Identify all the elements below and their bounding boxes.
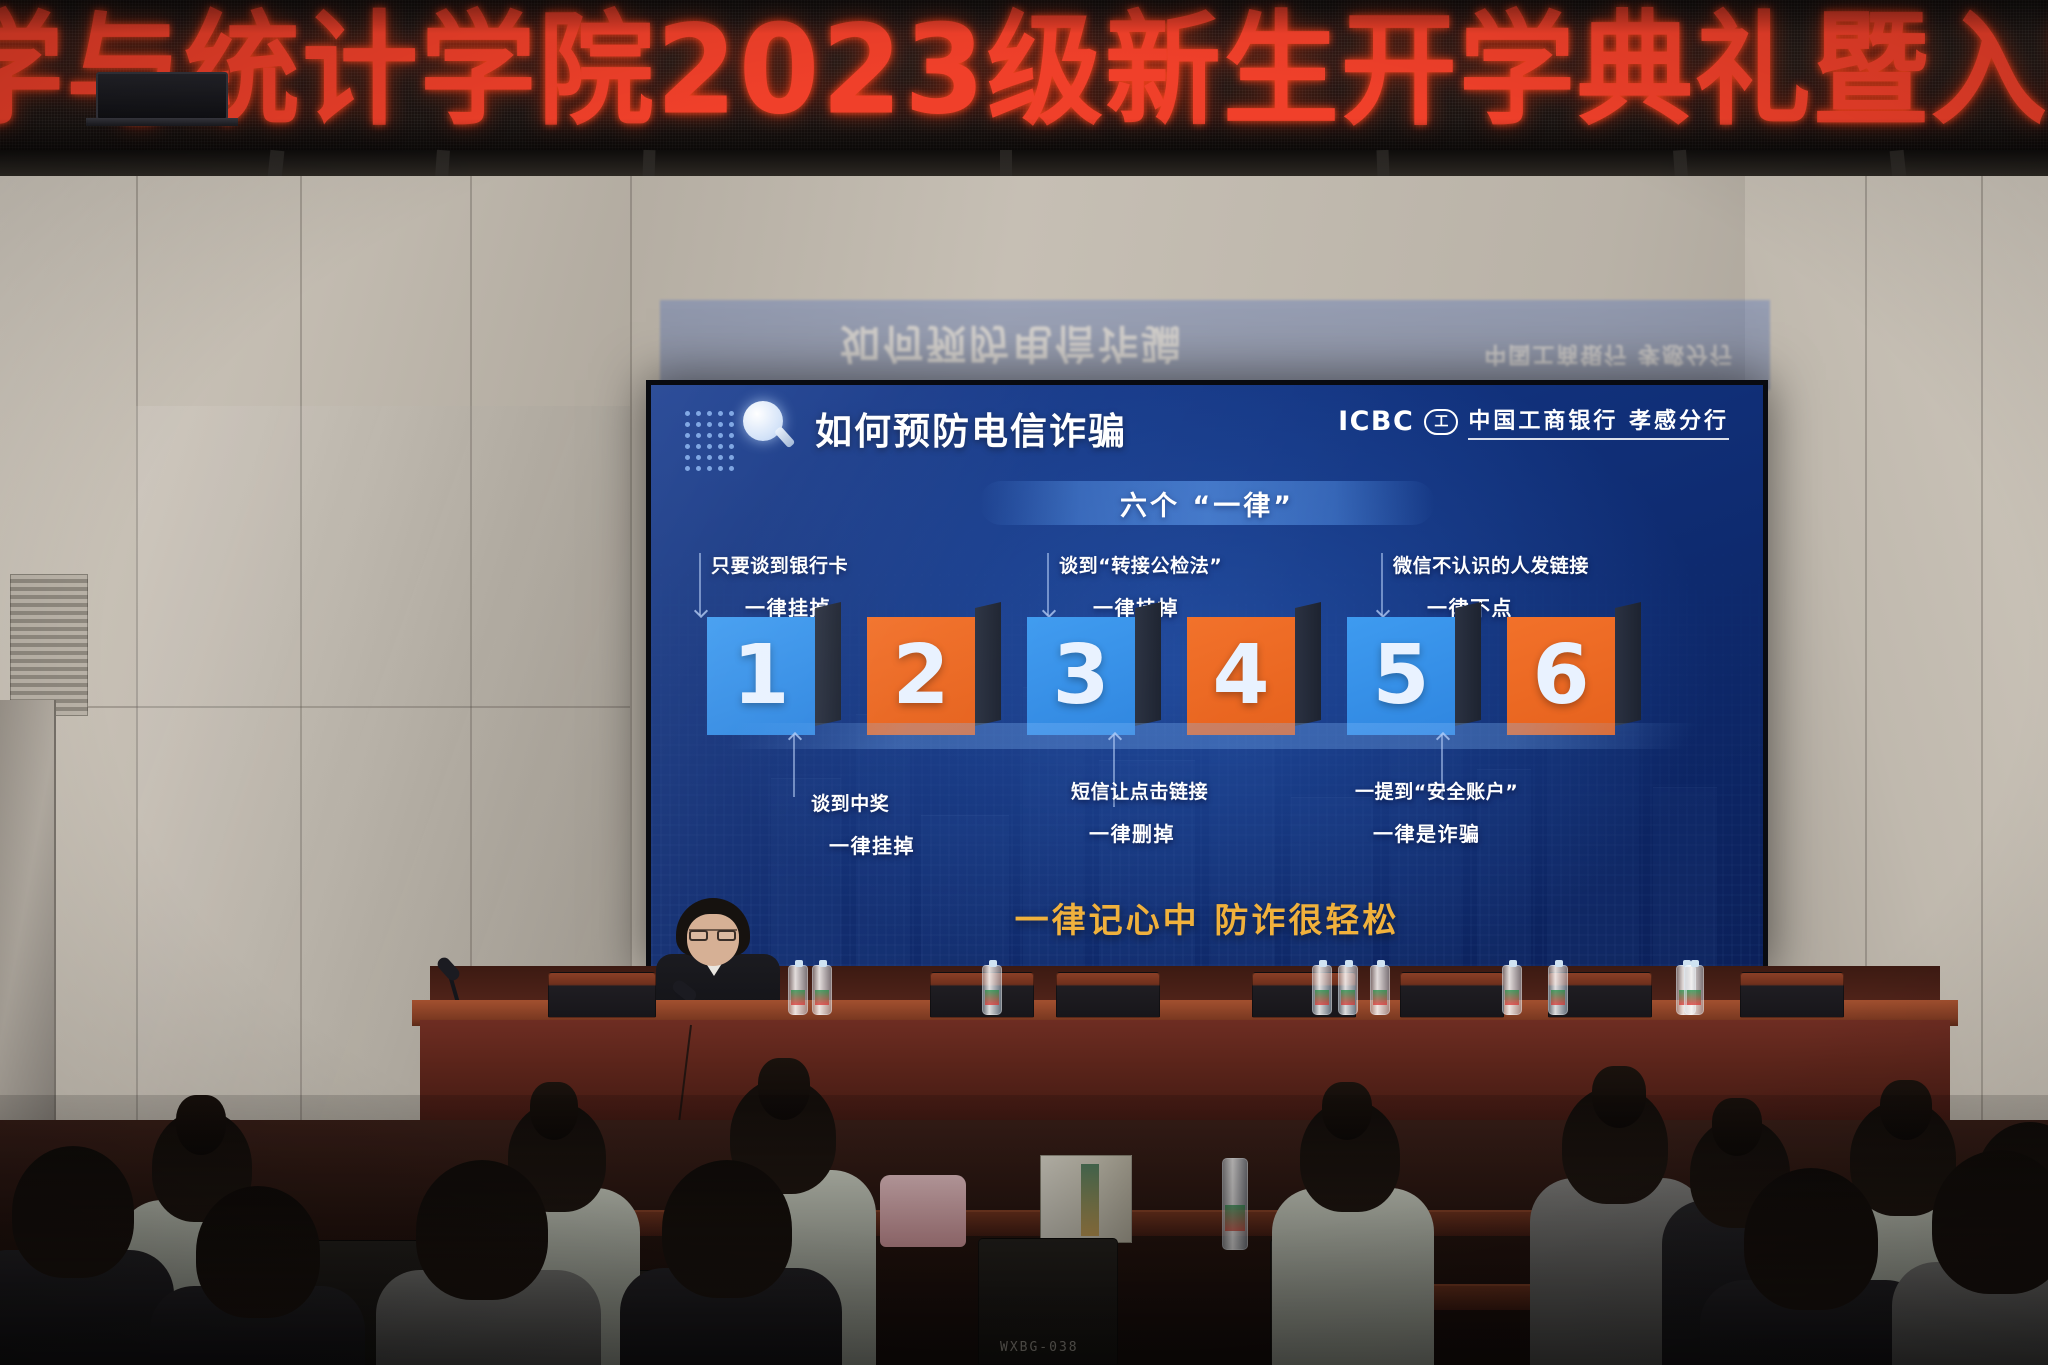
audience-hair	[176, 1095, 226, 1155]
audience-head	[1744, 1168, 1878, 1310]
water-bottle	[1502, 965, 1522, 1015]
connector-line	[699, 553, 701, 615]
audience-head	[416, 1160, 548, 1300]
cube-3-number: 3	[1027, 617, 1135, 735]
cube-1: 1	[707, 617, 815, 735]
water-bottle	[1338, 965, 1358, 1015]
audience-hair	[1880, 1080, 1932, 1140]
label-bottom-1-line2: 一律挂掉	[811, 830, 915, 859]
water-bottle	[788, 965, 808, 1015]
label-bottom-2: 短信让点击链接 一律删掉	[1071, 777, 1208, 847]
icbc-emblem-icon: 工	[1424, 409, 1458, 435]
cube-5: 5	[1347, 617, 1455, 735]
label-bottom-3-line1: 一提到“安全账户”	[1355, 781, 1518, 803]
audience-hair	[1712, 1098, 1762, 1156]
label-bottom-2-line1: 短信让点击链接	[1071, 781, 1208, 803]
connector-line	[1047, 553, 1049, 615]
cube-6-number: 6	[1507, 617, 1615, 735]
presentation-slide: 如何预防电信诈骗 ICBC 工 中国工商银行 孝感分行 六个 “一律” 只要谈到…	[651, 385, 1763, 970]
presenter-glasses	[689, 929, 737, 940]
presenter-laptop	[96, 72, 228, 120]
slide-subtitle-pill: 六个 “一律”	[980, 481, 1435, 525]
cube-2-side	[975, 602, 1001, 726]
reflection-logo: 中国工商银行 孝感分行	[1484, 340, 1734, 372]
seat-tag-1: WXBG-038	[1000, 1340, 1079, 1355]
label-bottom-3: 一提到“安全账户” 一律是诈骗	[1355, 777, 1518, 847]
slide-header: 如何预防电信诈骗 ICBC 工 中国工商银行 孝感分行	[651, 385, 1763, 465]
building	[1653, 787, 1717, 970]
label-bottom-2-line2: 一律删掉	[1071, 818, 1208, 847]
cube-2-number: 2	[867, 617, 975, 735]
water-bottle	[812, 965, 832, 1015]
audience-head	[12, 1146, 134, 1278]
cube-4-number: 4	[1187, 617, 1295, 735]
projection-screen: 如何预防电信诈骗 ICBC 工 中国工商银行 孝感分行 六个 “一律” 只要谈到…	[646, 380, 1768, 975]
slide-title: 如何预防电信诈骗	[815, 401, 1127, 455]
label-bottom-3-line2: 一律是诈骗	[1355, 818, 1518, 847]
icbc-wordmark: ICBC	[1338, 406, 1414, 437]
gift-bag	[1040, 1155, 1132, 1243]
connector-line	[1381, 553, 1383, 615]
head-table-chair	[1740, 972, 1844, 1018]
gift-bag-stripe	[1081, 1164, 1099, 1236]
audience-head	[662, 1160, 792, 1298]
icbc-logo: ICBC 工 中国工商银行 孝感分行	[1338, 403, 1729, 440]
cube-3: 3	[1027, 617, 1135, 735]
label-top-1-line1: 只要谈到银行卡	[711, 555, 848, 577]
label-top-3: 微信不认识的人发链接 一律不点	[1393, 551, 1589, 621]
audience-hair	[530, 1082, 578, 1140]
audience-head	[196, 1186, 320, 1318]
wall-seam	[1981, 176, 1983, 1186]
reflection-title: 如何预防电信诈骗	[840, 318, 1184, 376]
cube-1-number: 1	[707, 617, 815, 735]
water-bottle	[1548, 965, 1568, 1015]
head-table-chair	[548, 972, 656, 1018]
water-bottle	[1370, 965, 1390, 1015]
tissue-pack	[880, 1175, 966, 1247]
head-table-chair	[1400, 972, 1504, 1018]
cube-6-side	[1615, 602, 1641, 726]
led-banner: 学与统计学院2023级新生开学典礼暨入学	[0, 0, 2048, 152]
wall-vent	[10, 574, 88, 716]
cube-3-side	[1135, 602, 1161, 726]
cube-2: 2	[867, 617, 975, 735]
cube-6: 6	[1507, 617, 1615, 735]
audience-hair	[1322, 1082, 1372, 1140]
audience-hair	[1592, 1066, 1646, 1128]
led-banner-text: 学与统计学院2023级新生开学典礼暨入学	[0, 0, 2048, 151]
head-table-chair	[1056, 972, 1160, 1018]
cube-5-number: 5	[1347, 617, 1455, 735]
label-top-2-line1: 谈到“转接公检法”	[1059, 555, 1222, 577]
cube-platform-shadow	[725, 723, 1698, 749]
slide-slogan: 一律记心中 防诈很轻松	[1015, 893, 1400, 942]
slide-reflection: 如何预防电信诈骗 中国工商银行 孝感分行	[660, 300, 1770, 390]
cube-1-side	[815, 602, 841, 726]
cube-4-side	[1295, 602, 1321, 726]
label-top-3-line1: 微信不认识的人发链接	[1393, 555, 1589, 577]
magnifier-handle	[774, 426, 795, 448]
building	[921, 815, 1009, 970]
slide-subtitle: 六个 “一律”	[1120, 484, 1294, 523]
label-bottom-1-line1: 谈到中奖	[811, 793, 889, 815]
reflection-dot-grid	[768, 324, 820, 364]
cube-4: 4	[1187, 617, 1295, 735]
water-bottle	[982, 965, 1002, 1015]
presenter-laptop-base	[86, 118, 238, 126]
icbc-chinese-name: 中国工商银行 孝感分行	[1468, 403, 1729, 440]
water-bottle	[1684, 965, 1704, 1015]
magnifier-icon	[743, 401, 799, 457]
side-door[interactable]	[0, 700, 56, 1160]
audience-hair	[758, 1058, 810, 1120]
water-bottle	[1222, 1158, 1248, 1250]
water-bottle	[1312, 965, 1332, 1015]
lecture-hall-photo: 学与统计学院2023级新生开学典礼暨入学	[0, 0, 2048, 1365]
cube-5-side	[1455, 602, 1481, 726]
audience-person	[1272, 1188, 1434, 1365]
label-bottom-1: 谈到中奖 一律挂掉	[811, 789, 915, 859]
dot-grid-icon	[685, 411, 743, 477]
connector-line	[793, 735, 795, 797]
